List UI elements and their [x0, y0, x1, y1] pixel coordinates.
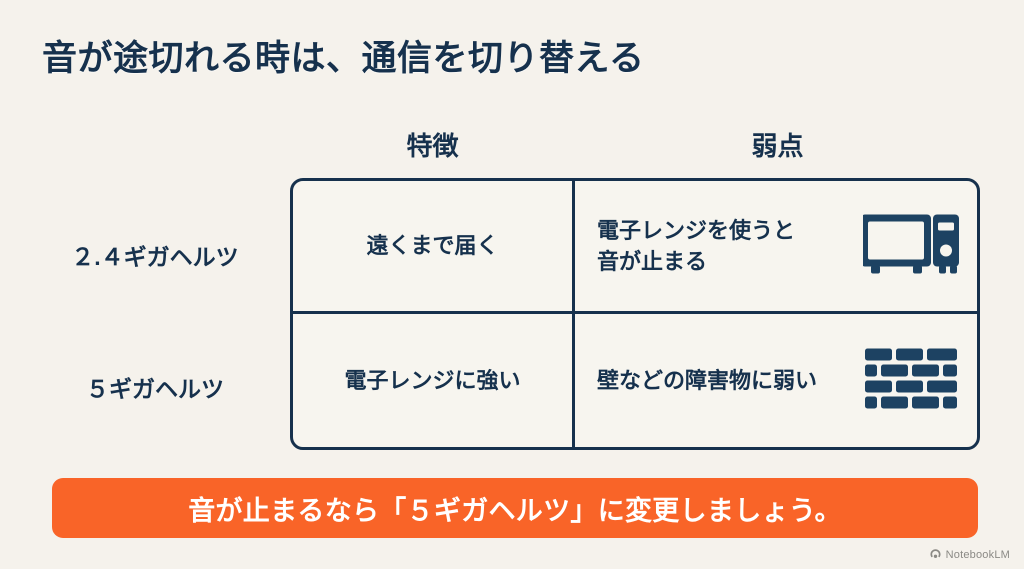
cell-weakness-5ghz: 壁などの障害物に弱い: [575, 314, 977, 447]
column-header-weakness: 弱点: [575, 126, 980, 163]
table-row: 遠くまで届く 電子レンジを使うと 音が止まる: [293, 181, 977, 314]
column-header-feature: 特徴: [290, 126, 575, 163]
slide-canvas: 音が途切れる時は、通信を切り替える 特徴 弱点 ２.４ギガヘルツ ５ギガヘルツ …: [0, 0, 1024, 569]
cell-text: 電子レンジに強い: [344, 365, 520, 396]
microwave-icon: [863, 211, 959, 282]
cell-feature-2-4ghz: 遠くまで届く: [293, 181, 575, 311]
cell-text: 電子レンジを使うと 音が止まる: [597, 215, 795, 277]
watermark: NotebookLM: [929, 548, 1010, 561]
row-label-2-4ghz: ２.４ギガヘルツ: [30, 238, 280, 272]
row-label-5ghz: ５ギガヘルツ: [30, 370, 280, 404]
table-row: 電子レンジに強い 壁などの障害物に弱い: [293, 314, 977, 447]
cell-text: 遠くまで届く: [366, 230, 498, 261]
brick-wall-icon: [863, 347, 959, 414]
notebooklm-logo-icon: [929, 548, 942, 561]
cell-feature-5ghz: 電子レンジに強い: [293, 314, 575, 447]
cell-weakness-2-4ghz: 電子レンジを使うと 音が止まる: [575, 181, 977, 311]
cell-text: 壁などの障害物に弱い: [597, 365, 817, 396]
callout-banner-text: 音が止まるなら「５ギガヘルツ」に変更しましょう。: [188, 489, 842, 528]
comparison-table: 遠くまで届く 電子レンジを使うと 音が止まる: [290, 178, 980, 450]
page-title: 音が途切れる時は、通信を切り替える: [42, 30, 644, 81]
watermark-label: NotebookLM: [946, 549, 1010, 561]
callout-banner: 音が止まるなら「５ギガヘルツ」に変更しましょう。: [52, 478, 978, 538]
